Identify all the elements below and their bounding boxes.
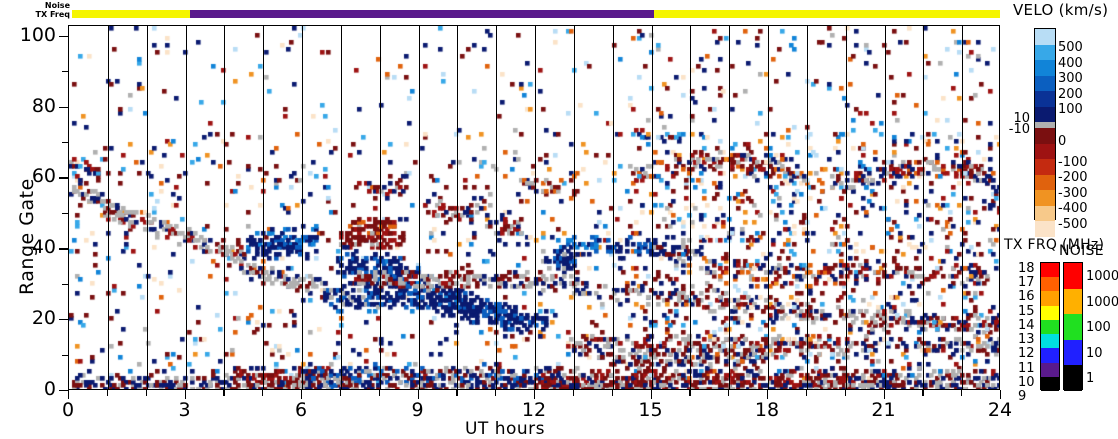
txfrq-colorbar-bin bbox=[1041, 320, 1059, 335]
x-tick-minor bbox=[495, 390, 496, 396]
noise-colorbar-bin bbox=[1064, 365, 1082, 391]
colorbar-bin bbox=[1035, 221, 1055, 237]
velocity-colorbar-tick-label: 100 bbox=[1058, 102, 1083, 117]
gridline bbox=[341, 26, 342, 389]
y-tick-minor bbox=[62, 142, 68, 143]
x-tick-label: 15 bbox=[621, 399, 681, 421]
txfrq-colorbar-bin bbox=[1041, 291, 1059, 306]
x-tick-minor bbox=[340, 390, 341, 396]
y-tick-minor bbox=[62, 213, 68, 214]
noise-colorbar-tick-label: 100 bbox=[1086, 320, 1111, 335]
x-tick-minor bbox=[728, 390, 729, 396]
x-tick-major bbox=[651, 390, 652, 399]
y-tick-label: 20 bbox=[32, 307, 56, 329]
x-tick-minor bbox=[961, 390, 962, 396]
y-tick-minor bbox=[62, 284, 68, 285]
txfrq-colorbar-tick-label: 11 bbox=[1018, 361, 1035, 376]
x-tick-minor bbox=[922, 390, 923, 396]
x-tick-minor bbox=[223, 390, 224, 396]
gridline bbox=[690, 26, 691, 389]
gridline bbox=[380, 26, 381, 389]
x-tick-major bbox=[185, 390, 186, 399]
colorbar-bin bbox=[1035, 206, 1055, 222]
colorbar-bin bbox=[1035, 128, 1055, 144]
velocity-colorbar-title: VELO (km/s) bbox=[1013, 1, 1108, 19]
velocity-colorbar-tick-label: -300 bbox=[1058, 186, 1088, 201]
colorbar-bin bbox=[1035, 91, 1055, 107]
colorbar-bin bbox=[1035, 29, 1055, 45]
txfrq-colorbar-tick-label: 12 bbox=[1018, 346, 1035, 361]
velocity-colorbar-tick-label: 400 bbox=[1058, 56, 1083, 71]
gridline bbox=[574, 26, 575, 389]
x-tick-label: 18 bbox=[737, 399, 797, 421]
gridline bbox=[108, 26, 109, 389]
gridline bbox=[807, 26, 808, 389]
x-tick-major bbox=[884, 390, 885, 399]
velocity-colorbar-tick-label: -100 bbox=[1058, 155, 1088, 170]
colorbar-bin bbox=[1035, 60, 1055, 76]
gridline bbox=[885, 26, 886, 389]
txfreq-segment bbox=[654, 10, 1000, 18]
velocity-colorbar-tick-label: 500 bbox=[1058, 40, 1083, 55]
txfrq-colorbar-bin bbox=[1041, 348, 1059, 363]
velocity-colorbar-tick-label: 0 bbox=[1058, 134, 1066, 149]
x-tick-minor bbox=[262, 390, 263, 396]
txfrq-colorbar-tick-label: 17 bbox=[1018, 275, 1035, 290]
txfreq-status-bar bbox=[72, 10, 1000, 18]
y-tick-major bbox=[59, 107, 68, 108]
noise-colorbar bbox=[1063, 262, 1083, 390]
noise-colorbar-title: NOISE bbox=[1059, 243, 1104, 259]
x-tick-minor bbox=[456, 390, 457, 396]
noise-colorbar-tick-label: 1000 bbox=[1086, 295, 1118, 310]
radar-range-time-plot: Noise TX Freq 020406080100 Range Gate 03… bbox=[0, 0, 1118, 435]
gridline bbox=[263, 26, 264, 389]
txfrq-colorbar-tick-label: 10 bbox=[1018, 375, 1035, 390]
noise-colorbar-tick-label: 10 bbox=[1086, 346, 1103, 361]
y-tick-minor bbox=[62, 355, 68, 356]
gridline bbox=[729, 26, 730, 389]
gridline bbox=[962, 26, 963, 389]
txfrq-colorbar-tick-label: 9 bbox=[1018, 389, 1026, 404]
txfrq-colorbar bbox=[1040, 262, 1060, 390]
colorbar-bin bbox=[1035, 76, 1055, 92]
txfreq-bar-label: TX Freq bbox=[18, 10, 70, 19]
txfreq-segment bbox=[190, 10, 654, 18]
gridline bbox=[419, 26, 420, 389]
txfrq-colorbar-tick-label: 14 bbox=[1018, 318, 1035, 333]
gridline bbox=[186, 26, 187, 389]
velocity-colorbar-tick-label: -400 bbox=[1058, 201, 1088, 216]
y-tick-major bbox=[59, 36, 68, 37]
colorbar-bin bbox=[1035, 107, 1055, 123]
txfrq-colorbar-tick-label: 18 bbox=[1018, 261, 1035, 276]
gridline bbox=[496, 26, 497, 389]
txfrq-colorbar-bin bbox=[1041, 334, 1059, 349]
txfrq-colorbar-tick-label: 16 bbox=[1018, 289, 1035, 304]
y-tick-label: 100 bbox=[20, 24, 56, 46]
y-tick-major bbox=[59, 390, 68, 391]
x-tick-minor bbox=[146, 390, 147, 396]
txfrq-colorbar-tick-label: 15 bbox=[1018, 304, 1035, 319]
txfrq-colorbar-bin bbox=[1041, 363, 1059, 378]
noise-colorbar-tick-label: 1 bbox=[1086, 371, 1094, 386]
x-tick-minor bbox=[806, 390, 807, 396]
x-tick-label: 0 bbox=[38, 399, 98, 421]
velocity-colorbar-tick-label: -200 bbox=[1058, 170, 1088, 185]
x-tick-minor bbox=[573, 390, 574, 396]
x-axis-title: UT hours bbox=[0, 419, 1010, 439]
txfrq-colorbar-tick-label: 13 bbox=[1018, 332, 1035, 347]
gridline bbox=[652, 26, 653, 389]
x-tick-major bbox=[418, 390, 419, 399]
gridline bbox=[224, 26, 225, 389]
colorbar-bin bbox=[1035, 45, 1055, 61]
noise-bar-label: Noise bbox=[18, 1, 70, 10]
x-tick-major bbox=[767, 390, 768, 399]
velocity-colorbar-tick-label: -500 bbox=[1058, 217, 1088, 232]
noise-colorbar-bin bbox=[1064, 314, 1082, 340]
gridline bbox=[613, 26, 614, 389]
velocity-colorbar-tick-label: 200 bbox=[1058, 87, 1083, 102]
x-tick-label: 3 bbox=[155, 399, 215, 421]
noise-colorbar-bin bbox=[1064, 289, 1082, 315]
x-tick-label: 6 bbox=[271, 399, 331, 421]
txfreq-segment bbox=[72, 10, 190, 18]
noise-colorbar-bin bbox=[1064, 263, 1082, 289]
y-tick-label: 80 bbox=[32, 95, 56, 117]
txfrq-colorbar-bin bbox=[1041, 306, 1059, 321]
y-tick-major bbox=[59, 248, 68, 249]
colorbar-bin bbox=[1035, 159, 1055, 175]
colorbar-bin bbox=[1035, 175, 1055, 191]
velocity-colorbar bbox=[1034, 28, 1056, 220]
x-tick-minor bbox=[612, 390, 613, 396]
y-tick-major bbox=[59, 177, 68, 178]
groundscatter-threshold-label: -10 bbox=[1004, 122, 1030, 137]
x-tick-label: 21 bbox=[854, 399, 914, 421]
y-tick-label: 0 bbox=[44, 378, 56, 400]
x-tick-minor bbox=[107, 390, 108, 396]
gridline bbox=[147, 26, 148, 389]
txfrq-colorbar-bin bbox=[1041, 263, 1059, 278]
y-axis-title: Range Gate bbox=[16, 178, 38, 295]
txfrq-colorbar-bin bbox=[1041, 277, 1059, 292]
gridline bbox=[457, 26, 458, 389]
x-tick-label: 12 bbox=[504, 399, 564, 421]
x-tick-major bbox=[301, 390, 302, 399]
y-tick-major bbox=[59, 319, 68, 320]
velocity-colorbar-tick-label: 300 bbox=[1058, 71, 1083, 86]
x-tick-minor bbox=[379, 390, 380, 396]
noise-colorbar-bin bbox=[1064, 340, 1082, 366]
x-tick-minor bbox=[845, 390, 846, 396]
x-tick-minor bbox=[689, 390, 690, 396]
x-tick-label: 9 bbox=[388, 399, 448, 421]
x-tick-major bbox=[1000, 390, 1001, 399]
gridline bbox=[768, 26, 769, 389]
x-tick-major bbox=[534, 390, 535, 399]
plot-area[interactable] bbox=[68, 25, 1000, 390]
colorbar-bin bbox=[1035, 144, 1055, 160]
gridline bbox=[923, 26, 924, 389]
noise-colorbar-tick-label: 10000 bbox=[1086, 269, 1118, 284]
gridline bbox=[302, 26, 303, 389]
y-tick-minor bbox=[62, 71, 68, 72]
x-tick-major bbox=[68, 390, 69, 399]
gridline bbox=[846, 26, 847, 389]
colorbar-bin bbox=[1035, 190, 1055, 206]
gridline bbox=[535, 26, 536, 389]
txfrq-colorbar-bin bbox=[1041, 377, 1059, 392]
